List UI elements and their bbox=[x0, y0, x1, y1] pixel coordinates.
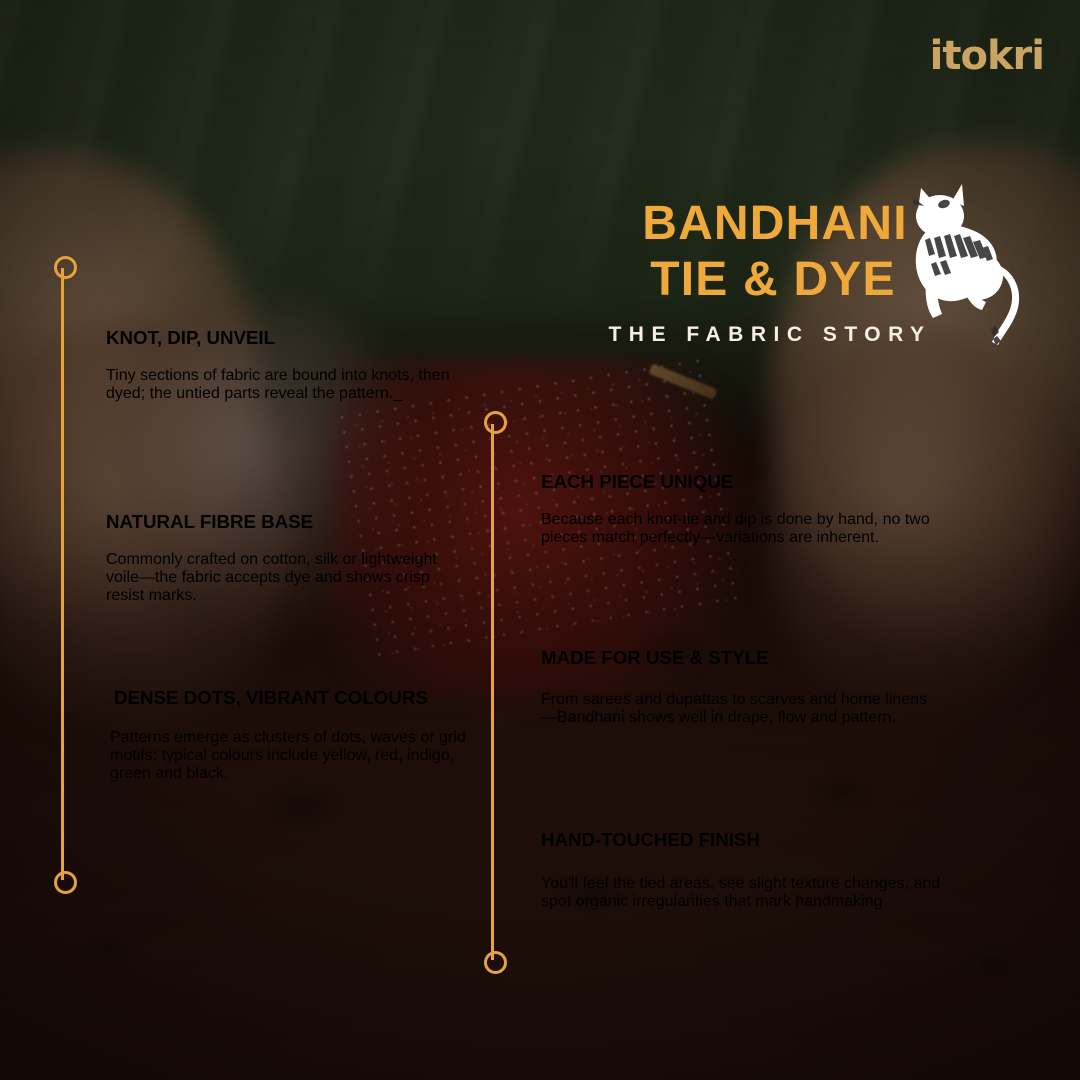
poster-subtitle: THE FABRIC STORY bbox=[540, 323, 1000, 347]
left-block-2: NATURAL FIBRE BASE Commonly crafted on c… bbox=[106, 492, 466, 621]
left-timeline-rail bbox=[61, 268, 64, 880]
poster-title-block: BANDHANI TIE & DYE THE FABRIC STORY bbox=[540, 196, 1000, 347]
right-block-3: HAND-TOUCHED FINISH You'll feel the tied… bbox=[541, 810, 941, 927]
left-block-3: DENSE DOTS, VIBRANT COLOURS Patterns eme… bbox=[106, 668, 466, 799]
brand-logo[interactable]: itokri bbox=[930, 36, 1044, 76]
title-line-1: BANDHANI bbox=[540, 196, 1000, 252]
right-block-3-heading: HAND-TOUCHED FINISH bbox=[541, 829, 941, 851]
right-block-1: EACH PIECE UNIQUE Because each knot-tie … bbox=[541, 452, 941, 563]
left-block-2-heading: NATURAL FIBRE BASE bbox=[106, 511, 466, 533]
left-block-3-heading: DENSE DOTS, VIBRANT COLOURS bbox=[106, 687, 466, 709]
right-rail-node-bottom bbox=[484, 951, 507, 974]
left-block-1-heading: KNOT, DIP, UNVEIL bbox=[106, 327, 466, 349]
left-rail-node-top bbox=[54, 256, 77, 279]
left-rail-node-bottom bbox=[54, 871, 77, 894]
right-block-3-body: You'll feel the tied areas, see slight t… bbox=[541, 875, 941, 911]
right-block-2-body: From sarees and dupattas to scarves and … bbox=[541, 691, 941, 727]
left-block-3-body: Patterns emerge as clusters of dots, wav… bbox=[106, 729, 466, 783]
right-timeline-rail bbox=[491, 424, 494, 960]
title-line-2: TIE & DYE bbox=[540, 252, 1000, 308]
right-block-1-body: Because each knot-tie and dip is done by… bbox=[541, 511, 941, 547]
right-block-2-heading: MADE FOR USE & STYLE bbox=[541, 647, 941, 669]
left-block-1-body: Tiny sections of fabric are bound into k… bbox=[106, 367, 466, 403]
left-block-2-body: Commonly crafted on cotton, silk or ligh… bbox=[106, 551, 466, 605]
right-block-1-heading: EACH PIECE UNIQUE bbox=[541, 471, 941, 493]
right-block-2: MADE FOR USE & STYLE From sarees and dup… bbox=[541, 628, 941, 743]
left-block-1: KNOT, DIP, UNVEIL Tiny sections of fabri… bbox=[106, 308, 466, 419]
infographic-poster: itokri bbox=[0, 0, 1080, 1080]
right-rail-node-top bbox=[484, 411, 507, 434]
